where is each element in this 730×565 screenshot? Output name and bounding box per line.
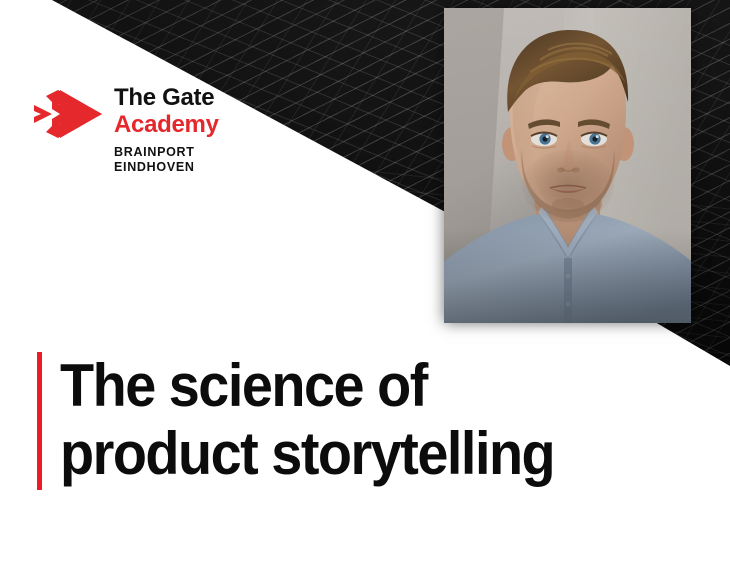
brand-name-line-2: Academy: [114, 113, 219, 137]
brand-tagline-line-1: BRAINPORT: [114, 145, 219, 160]
page-title-line-2: product storytelling: [60, 420, 554, 488]
speaker-portrait-photo: [444, 8, 691, 323]
poster-canvas: The Gate Academy BRAINPORT EINDHOVEN: [0, 0, 730, 565]
brand-logo-wordmark: The Gate Academy BRAINPORT EINDHOVEN: [114, 84, 219, 176]
headline-block: The science of product storytelling: [37, 352, 591, 490]
brand-logo: The Gate Academy BRAINPORT EINDHOVEN: [30, 84, 219, 176]
brand-tagline: BRAINPORT EINDHOVEN: [114, 145, 219, 176]
page-title-line-1: The science of: [60, 352, 427, 419]
brand-tagline-line-2: EINDHOVEN: [114, 160, 219, 175]
headline-red-rule: [37, 352, 42, 490]
page-title: The science of product storytelling: [60, 352, 554, 490]
brand-name-line-1: The Gate: [114, 86, 219, 110]
double-chevron-arrow-icon: [30, 88, 102, 140]
